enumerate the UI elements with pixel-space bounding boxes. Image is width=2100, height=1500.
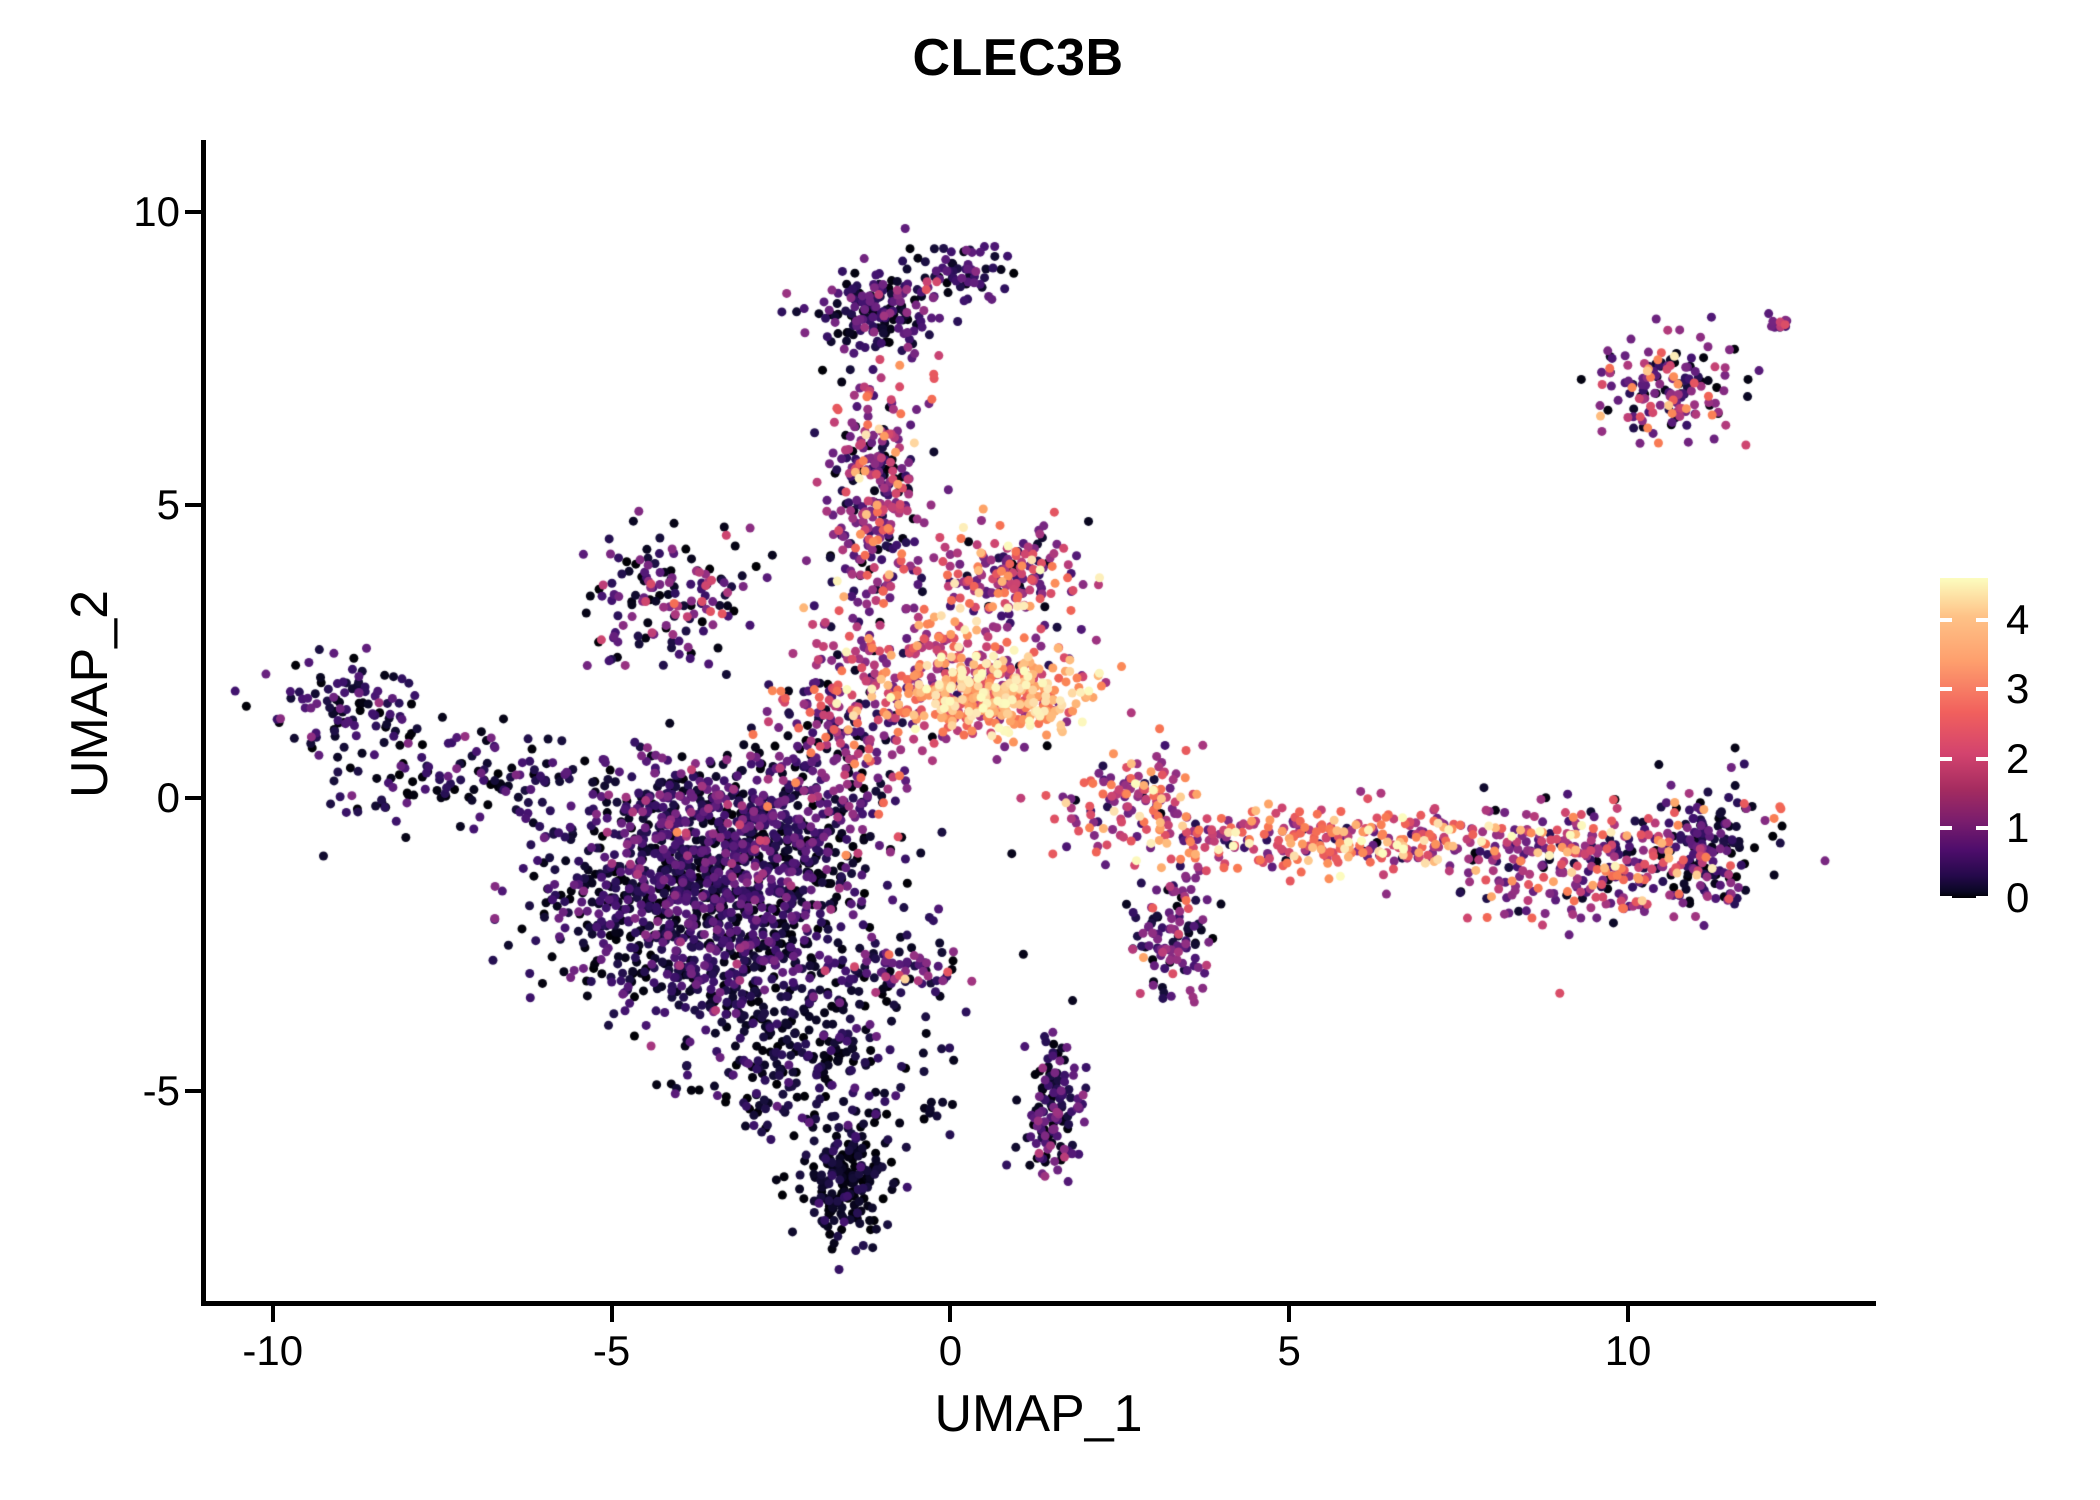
- plot-panel: [205, 142, 1872, 1302]
- x-tick-label: 0: [870, 1330, 1030, 1372]
- x-tick-label: -10: [193, 1330, 353, 1372]
- y-axis-line: [201, 140, 206, 1306]
- umap-feature-plot: CLEC3B -50510 -10-50510 UMAP_1 UMAP_2 01…: [0, 0, 2100, 1500]
- colorbar-tick-label: 2: [2006, 738, 2029, 780]
- y-tick-mark: [185, 1089, 201, 1093]
- x-tick-label: 5: [1209, 1330, 1369, 1372]
- y-tick-label: 10: [70, 191, 180, 233]
- colorbar-tick: [1940, 757, 1952, 761]
- page-title: CLEC3B: [0, 28, 2058, 88]
- colorbar-tick: [1940, 896, 1952, 900]
- colorbar-tick: [1940, 687, 1952, 691]
- colorbar-tick: [1940, 826, 1952, 830]
- colorbar-tick: [1976, 687, 1988, 691]
- x-axis-title: UMAP_1: [205, 1384, 1872, 1444]
- colorbar-gradient: 01234: [1940, 578, 1988, 898]
- colorbar-tick: [1976, 757, 1988, 761]
- x-tick-mark: [271, 1306, 275, 1322]
- x-tick-mark: [1287, 1306, 1291, 1322]
- colorbar-tick-label: 0: [2006, 877, 2029, 919]
- colorbar-legend: 01234: [1940, 578, 1988, 898]
- x-axis-line: [201, 1301, 1876, 1306]
- x-tick-mark: [948, 1306, 952, 1322]
- x-tick-mark: [1626, 1306, 1630, 1322]
- colorbar-tick: [1976, 618, 1988, 622]
- y-tick-mark: [185, 210, 201, 214]
- colorbar-tick-label: 1: [2006, 807, 2029, 849]
- y-axis-title: UMAP_2: [60, 374, 120, 1014]
- colorbar-tick: [1976, 896, 1988, 900]
- x-tick-label: 10: [1548, 1330, 1708, 1372]
- scatter-points-layer: [205, 142, 1872, 1302]
- colorbar-tick: [1976, 826, 1988, 830]
- colorbar-tick-label: 4: [2006, 599, 2029, 641]
- y-tick-mark: [185, 503, 201, 507]
- y-tick-mark: [185, 796, 201, 800]
- y-tick-label: -5: [70, 1070, 180, 1112]
- colorbar-tick: [1940, 618, 1952, 622]
- x-tick-label: -5: [532, 1330, 692, 1372]
- x-tick-mark: [610, 1306, 614, 1322]
- colorbar-tick-label: 3: [2006, 668, 2029, 710]
